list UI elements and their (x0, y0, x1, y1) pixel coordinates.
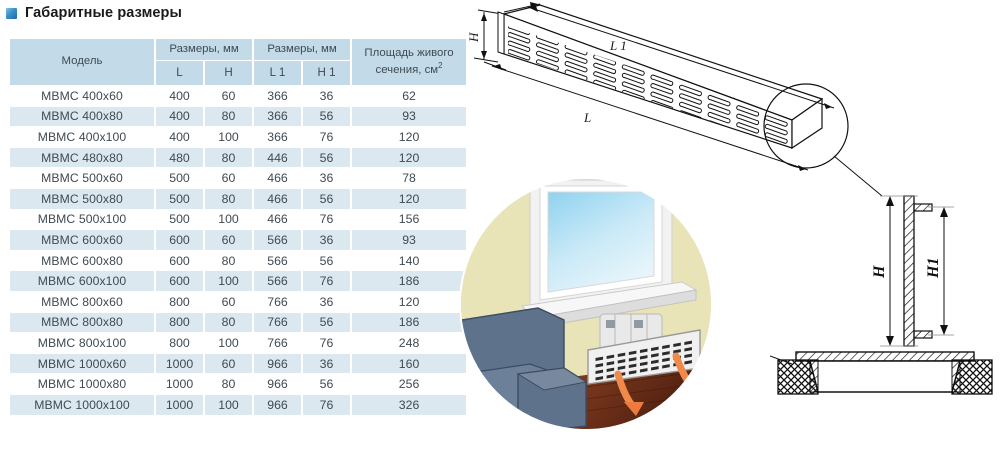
cell-h1: 36 (303, 86, 350, 106)
col-header-h: H (205, 61, 252, 85)
cell-l: 800 (156, 292, 203, 312)
cell-h: 100 (205, 333, 252, 353)
table-row: МВМС 400х60400603663662 (10, 86, 466, 106)
cell-l: 1000 (156, 374, 203, 394)
cell-l1: 366 (254, 86, 301, 106)
table-row: МВМС 1000х6010006096636160 (10, 354, 466, 374)
mounted-faceplate (796, 352, 974, 361)
col-header-group-l1h1: Размеры, мм (254, 39, 350, 60)
technical-drawings: H L (462, 0, 1001, 464)
mounted-body-wall-right (952, 361, 960, 392)
cell-model: МВМС 1000х60 (10, 354, 154, 374)
iso-label-h: H (466, 32, 481, 43)
cell-h: 80 (205, 313, 252, 333)
cell-h: 100 (205, 271, 252, 291)
cell-model: МВМС 400х60 (10, 86, 154, 106)
cell-l1: 466 (254, 189, 301, 209)
col-header-area: Площадь живого сечения, см2 (352, 39, 466, 85)
cell-l: 400 (156, 127, 203, 147)
table-row: МВМС 600х10060010056676186 (10, 271, 466, 291)
cell-h: 60 (205, 354, 252, 374)
table-header: Модель Размеры, мм Размеры, мм Площадь ж… (10, 39, 466, 85)
cell-h1: 76 (303, 127, 350, 147)
cell-area: 156 (352, 210, 466, 230)
mounted-section (770, 338, 1000, 418)
cell-area: 160 (352, 354, 466, 374)
section-label-h: H (871, 265, 888, 279)
cell-h1: 36 (303, 292, 350, 312)
cell-h1: 76 (303, 210, 350, 230)
cell-l: 800 (156, 313, 203, 333)
airflow-arrow-head-right (684, 384, 704, 398)
cell-h: 80 (205, 374, 252, 394)
grille-left-edge (498, 12, 504, 54)
cell-h1: 56 (303, 189, 350, 209)
table-row: МВМС 480х804808044656120 (10, 148, 466, 168)
cell-h: 60 (205, 230, 252, 250)
spec-sheet-page: Габаритные размеры Модель Размеры, мм Ра… (0, 0, 1001, 464)
mounted-body-wall-left (810, 361, 818, 392)
cell-l: 1000 (156, 395, 203, 415)
table-row: МВМС 1000х8010008096656256 (10, 374, 466, 394)
cell-l: 800 (156, 333, 203, 353)
cell-area: 248 (352, 333, 466, 353)
cell-h: 80 (205, 148, 252, 168)
cell-model: МВМС 500х60 (10, 168, 154, 188)
col-header-area-sup: 2 (438, 61, 442, 70)
cell-h1: 76 (303, 395, 350, 415)
cell-area: 186 (352, 271, 466, 291)
table-row: МВМС 600х806008056656140 (10, 251, 466, 271)
cell-l: 1000 (156, 354, 203, 374)
section-ext-lines (880, 196, 954, 346)
iso-label-l: L (583, 110, 591, 125)
cell-model: МВМС 1000х100 (10, 395, 154, 415)
bullet-square-icon (6, 8, 17, 19)
table-body: МВМС 400х60400603663662МВМС 400х80400803… (10, 86, 466, 415)
section-plate (904, 196, 914, 346)
cell-area: 93 (352, 230, 466, 250)
iso-label-l1: L 1 (609, 38, 627, 53)
cell-h1: 56 (303, 374, 350, 394)
cell-area: 140 (352, 251, 466, 271)
table-row: МВМС 500х10050010046676156 (10, 210, 466, 230)
table-header-row-groups: Модель Размеры, мм Размеры, мм Площадь ж… (10, 39, 466, 60)
section-flange-bottom (914, 331, 932, 338)
cell-model: МВМС 500х100 (10, 210, 154, 230)
table-row: МВМС 500х60500604663678 (10, 168, 466, 188)
page-title-text: Габаритные размеры (25, 5, 182, 21)
cell-l: 600 (156, 251, 203, 271)
cell-model: МВМС 800х80 (10, 313, 154, 333)
table-row: МВМС 800х808008076656186 (10, 313, 466, 333)
illustration-clip-group (460, 178, 712, 434)
cell-l1: 766 (254, 333, 301, 353)
table-row: МВМС 1000х100100010096676326 (10, 395, 466, 415)
cell-model: МВМС 600х80 (10, 251, 154, 271)
col-header-group-lh: Размеры, мм (156, 39, 252, 60)
cell-l: 500 (156, 189, 203, 209)
cell-l1: 966 (254, 395, 301, 415)
cell-l1: 966 (254, 374, 301, 394)
cell-h: 100 (205, 210, 252, 230)
cell-area: 120 (352, 189, 466, 209)
cell-h: 100 (205, 395, 252, 415)
cell-area: 326 (352, 395, 466, 415)
cell-h1: 56 (303, 313, 350, 333)
cell-l1: 766 (254, 313, 301, 333)
cell-area: 120 (352, 292, 466, 312)
cell-h: 80 (205, 107, 252, 127)
cell-model: МВМС 400х80 (10, 107, 154, 127)
cell-h1: 36 (303, 354, 350, 374)
cell-l1: 766 (254, 292, 301, 312)
cell-h1: 76 (303, 333, 350, 353)
cell-l1: 446 (254, 148, 301, 168)
table-row: МВМС 500х805008046656120 (10, 189, 466, 209)
col-header-l: L (156, 61, 203, 85)
cell-h1: 36 (303, 230, 350, 250)
cell-model: МВМС 400х100 (10, 127, 154, 147)
cell-h: 60 (205, 86, 252, 106)
cell-h1: 56 (303, 251, 350, 271)
cell-l: 600 (156, 230, 203, 250)
cell-area: 93 (352, 107, 466, 127)
cell-l1: 566 (254, 271, 301, 291)
cell-l: 500 (156, 210, 203, 230)
cell-h: 100 (205, 127, 252, 147)
cell-l: 500 (156, 168, 203, 188)
cell-l: 480 (156, 148, 203, 168)
cell-l1: 566 (254, 251, 301, 271)
dimensions-table: Модель Размеры, мм Размеры, мм Площадь ж… (8, 38, 468, 416)
cell-h: 80 (205, 251, 252, 271)
window-glass (548, 192, 654, 292)
col-header-h1: H 1 (303, 61, 350, 85)
cell-area: 62 (352, 86, 466, 106)
cell-h: 80 (205, 189, 252, 209)
cell-model: МВМС 480х80 (10, 148, 154, 168)
cell-area: 120 (352, 148, 466, 168)
cell-l: 400 (156, 107, 203, 127)
cell-l1: 466 (254, 210, 301, 230)
cell-h: 60 (205, 168, 252, 188)
table-row: МВМС 400х10040010036676120 (10, 127, 466, 147)
cell-model: МВМС 800х100 (10, 333, 154, 353)
cell-area: 186 (352, 313, 466, 333)
cell-l1: 966 (254, 354, 301, 374)
cell-l1: 366 (254, 107, 301, 127)
cell-l1: 466 (254, 168, 301, 188)
cell-model: МВМС 500х80 (10, 189, 154, 209)
cell-h: 60 (205, 292, 252, 312)
cell-h1: 36 (303, 168, 350, 188)
table-row: МВМС 800х608006076636120 (10, 292, 466, 312)
section-flange-top (914, 204, 932, 211)
cell-h1: 56 (303, 148, 350, 168)
cell-model: МВМС 600х60 (10, 230, 154, 250)
col-header-model: Модель (10, 39, 154, 85)
table-row: МВМС 800х10080010076676248 (10, 333, 466, 353)
cell-area: 256 (352, 374, 466, 394)
cell-area: 120 (352, 127, 466, 147)
mounted-body (810, 361, 960, 392)
table-row: МВМС 600х60600605663693 (10, 230, 466, 250)
cell-model: МВМС 1000х80 (10, 374, 154, 394)
cell-model: МВМС 600х100 (10, 271, 154, 291)
cell-area: 78 (352, 168, 466, 188)
section-label-h1: H1 (925, 258, 942, 279)
dimensions-table-wrapper: Модель Размеры, мм Размеры, мм Площадь ж… (8, 38, 460, 416)
cell-l1: 366 (254, 127, 301, 147)
cell-h1: 76 (303, 271, 350, 291)
cell-l: 600 (156, 271, 203, 291)
cell-h1: 56 (303, 107, 350, 127)
room-installation-illustration (460, 178, 712, 434)
col-header-l1: L 1 (254, 61, 301, 85)
page-title: Габаритные размеры (6, 5, 182, 21)
cell-model: МВМС 800х60 (10, 292, 154, 312)
cell-l1: 566 (254, 230, 301, 250)
table-row: МВМС 400х80400803665693 (10, 107, 466, 127)
cell-l: 400 (156, 86, 203, 106)
